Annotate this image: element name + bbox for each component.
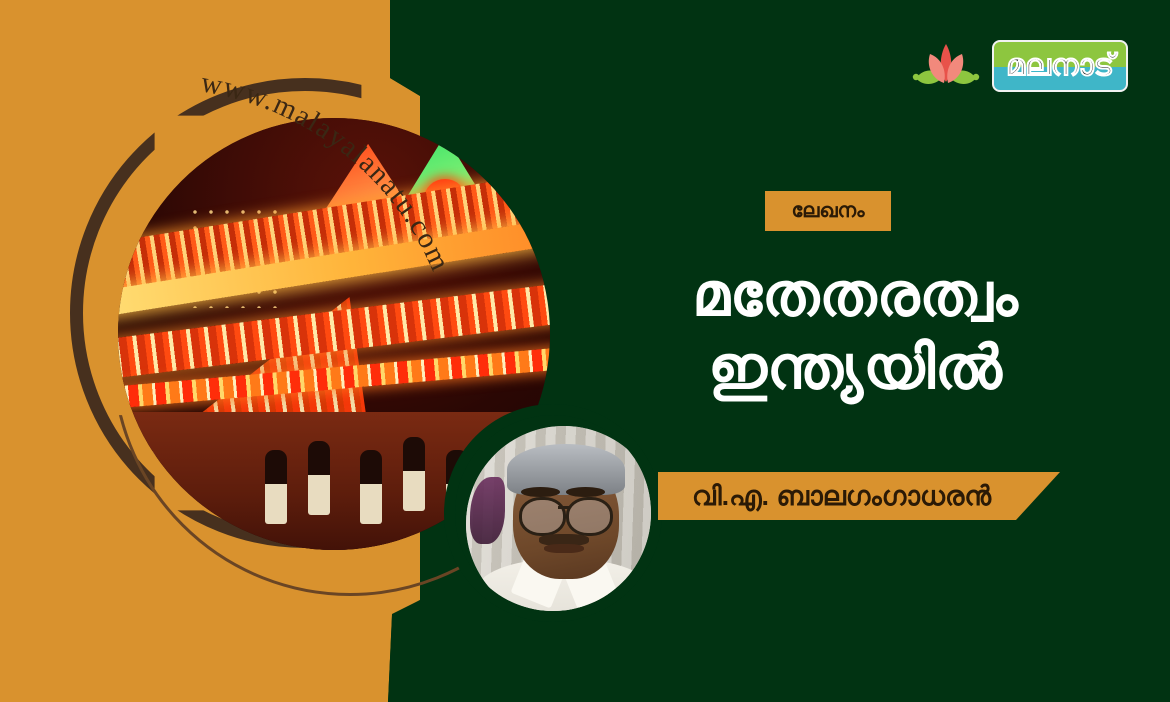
website-url-text: www.malayalanatu.com <box>199 66 457 276</box>
brand-logo: മലനാട് <box>910 38 1128 94</box>
portrait-brow-left <box>521 487 560 497</box>
lotus-icon <box>910 38 982 94</box>
author-ribbon: വി.എ. ബാലഗംഗാധരൻ <box>658 472 1060 520</box>
page-title: മതേതരത്വം ഇന്ത്യയിൽ <box>630 258 1080 404</box>
website-url: www.malayalanatu.com <box>150 50 670 470</box>
author-name: വി.എ. ബാലഗംഗാധരൻ <box>658 483 991 510</box>
category-badge: ലേഖനം <box>765 191 891 231</box>
title-line-1: മതേതരത്വം <box>692 261 1018 328</box>
portrait-hair <box>507 444 625 495</box>
author-portrait-photo <box>444 404 662 622</box>
category-badge-label: ലേഖനം <box>792 201 865 221</box>
brand-wordmark: മലനാട് <box>992 40 1128 92</box>
article-poster: www.malayalanatu.com ലേഖനം മതേതരത്വ <box>0 0 1170 702</box>
title-line-2: ഇന്ത്യയിൽ <box>630 331 1080 404</box>
portrait-mouth <box>544 544 583 554</box>
eyeglasses-bridge-icon <box>558 506 570 509</box>
eyeglasses-left-icon <box>519 497 566 536</box>
eyeglasses-right-icon <box>566 497 613 536</box>
brand-wordmark-text: മലനാട് <box>1006 51 1114 81</box>
author-portrait-inner <box>466 426 662 622</box>
portrait-brow-right <box>566 487 605 497</box>
